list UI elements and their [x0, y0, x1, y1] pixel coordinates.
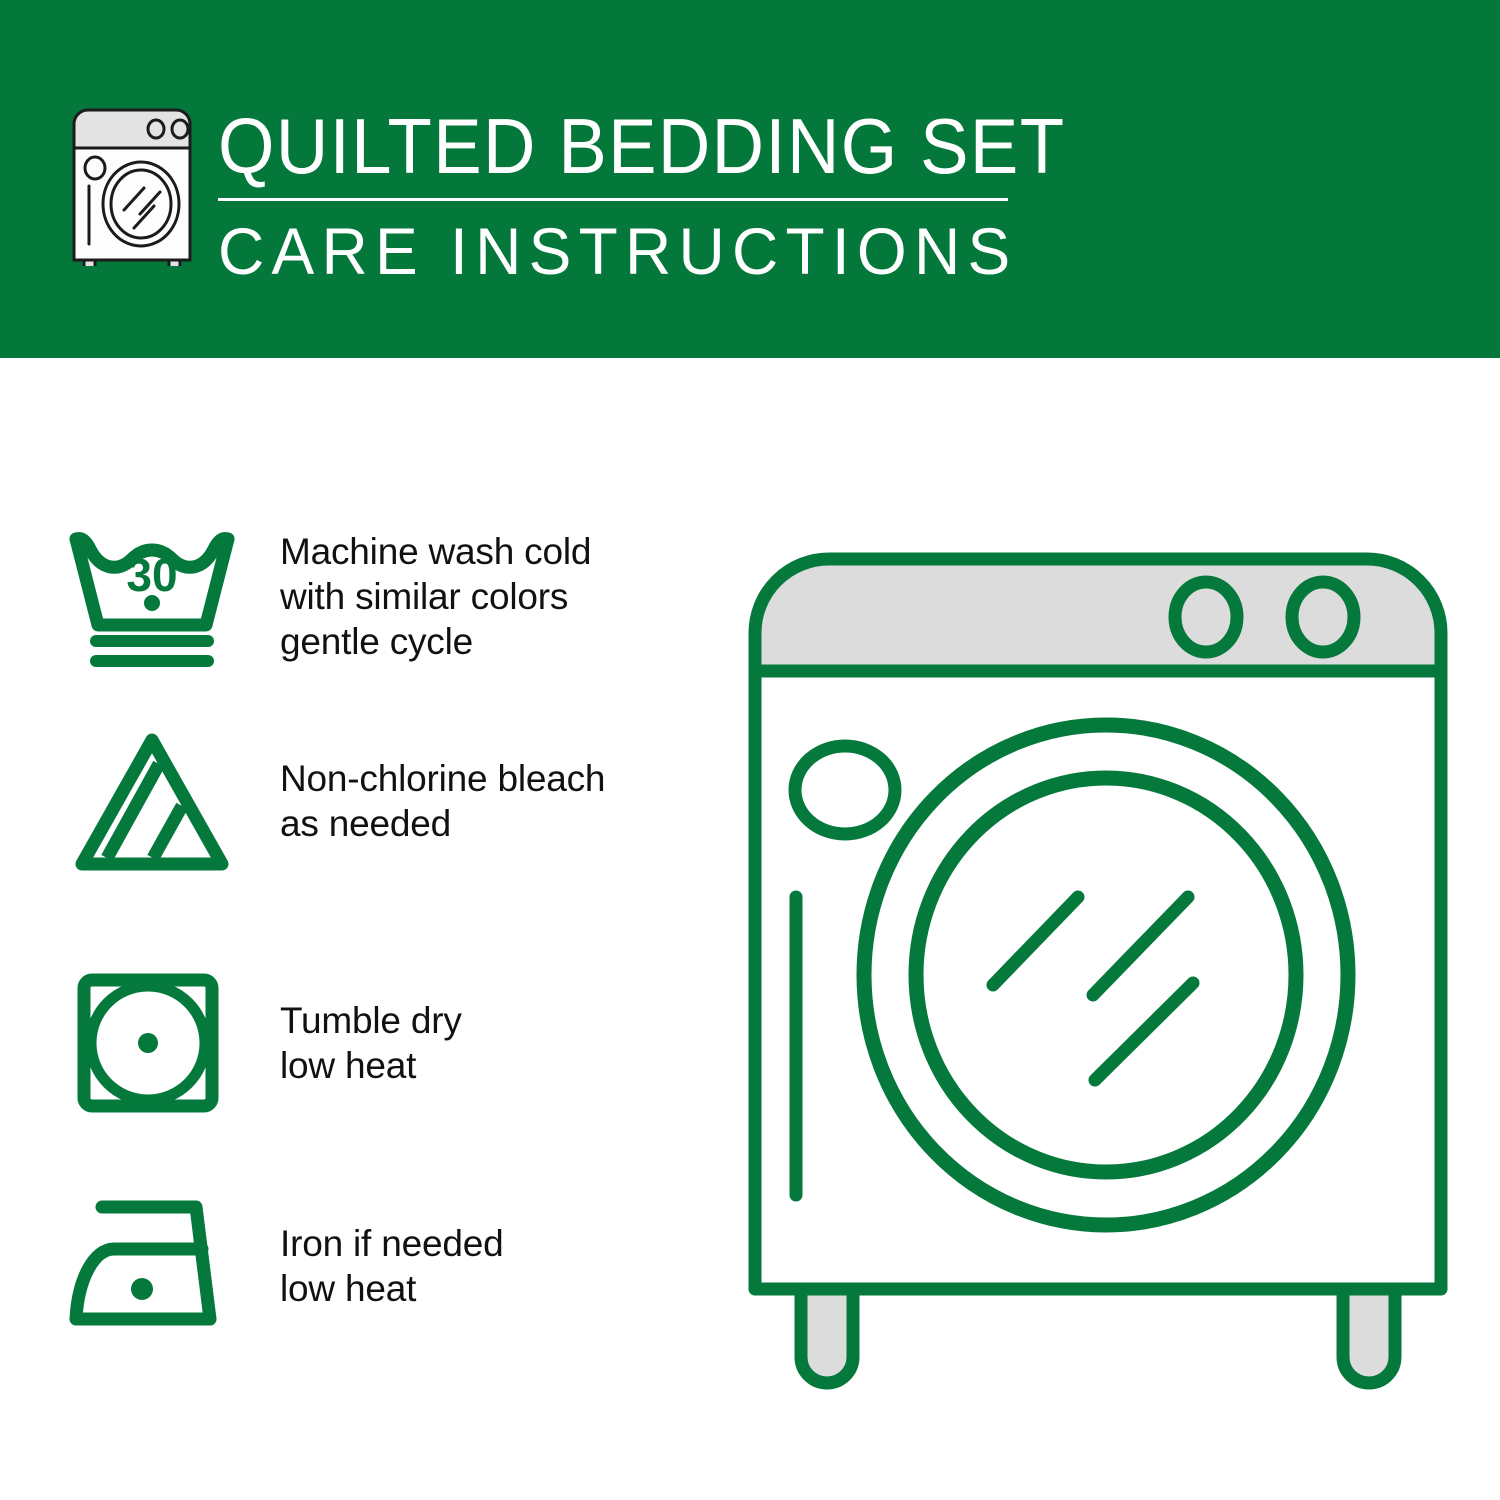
tumble-dry-low-icon [62, 968, 262, 1118]
non-chlorine-bleach-triangle-icon [62, 726, 262, 876]
indicator-circle [795, 746, 895, 834]
care-row-bleach: Non-chlorine bleach as needed [0, 716, 740, 886]
care-row-iron: Iron if needed low heat [0, 1186, 740, 1346]
washing-machine-icon [62, 98, 202, 266]
leg-right [1343, 1289, 1395, 1383]
header-text-block: QUILTED BEDDING SET CARE INSTRUCTIONS [218, 104, 1028, 287]
page-title: QUILTED BEDDING SET [218, 104, 971, 188]
title-divider [218, 198, 1008, 201]
wash-temperature-value: 30 [126, 549, 177, 601]
care-instruction-list: 30 Machine wash cold with similar colors… [0, 358, 740, 1500]
leg-left [801, 1289, 853, 1383]
care-instructions-page: QUILTED BEDDING SET CARE INSTRUCTIONS [0, 0, 1500, 1500]
care-row-tumble-dry: Tumble dry low heat [0, 958, 740, 1128]
page-subtitle: CARE INSTRUCTIONS [218, 215, 1004, 287]
knob-right [1292, 582, 1354, 652]
iron-low-heat-icon [62, 1191, 262, 1341]
care-label-tumble-dry: Tumble dry low heat [280, 998, 740, 1088]
header-banner: QUILTED BEDDING SET CARE INSTRUCTIONS [0, 0, 1500, 358]
care-row-machine-wash: 30 Machine wash cold with similar colors… [0, 506, 740, 686]
care-label-bleach: Non-chlorine bleach as needed [280, 756, 740, 846]
knob-left [1175, 582, 1237, 652]
washing-machine-illustration [748, 505, 1448, 1415]
wash-tub-30-icon: 30 [62, 521, 262, 671]
care-label-machine-wash: Machine wash cold with similar colors ge… [280, 529, 740, 664]
care-label-iron: Iron if needed low heat [280, 1221, 740, 1311]
